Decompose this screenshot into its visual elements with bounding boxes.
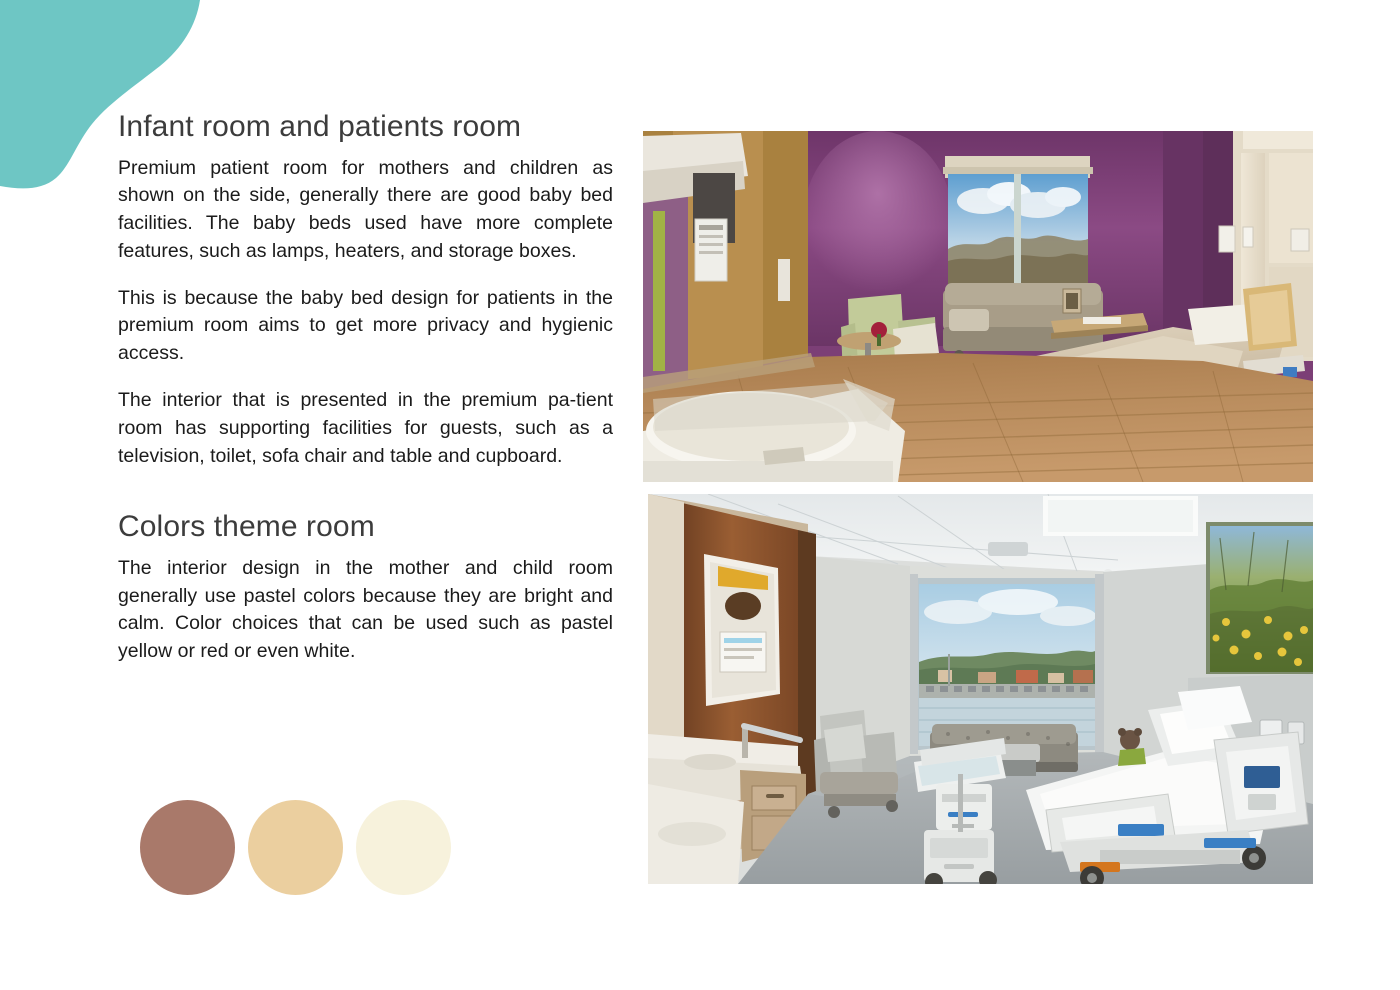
swatch-tan	[248, 800, 343, 895]
swatch-cream	[356, 800, 451, 895]
photo-purple-maternity-room	[643, 131, 1313, 482]
paragraph-pastel-colors: The interior design in the mother and ch…	[118, 555, 613, 666]
paragraph-interior-facilities: The interior that is presented in the pr…	[118, 387, 613, 470]
color-swatch-group	[140, 800, 451, 895]
paragraph-premium-patient-room: Premium patient room for mothers and chi…	[118, 155, 613, 266]
page-title-infant-room: Infant room and patients room	[118, 110, 613, 145]
photo-modern-patient-room	[648, 494, 1313, 884]
swatch-brown	[140, 800, 235, 895]
section-title-colors-theme-room: Colors theme room	[118, 510, 613, 545]
paragraph-baby-bed-design: This is because the baby bed design for …	[118, 285, 613, 368]
text-column: Infant room and patients room Premium pa…	[118, 110, 613, 666]
